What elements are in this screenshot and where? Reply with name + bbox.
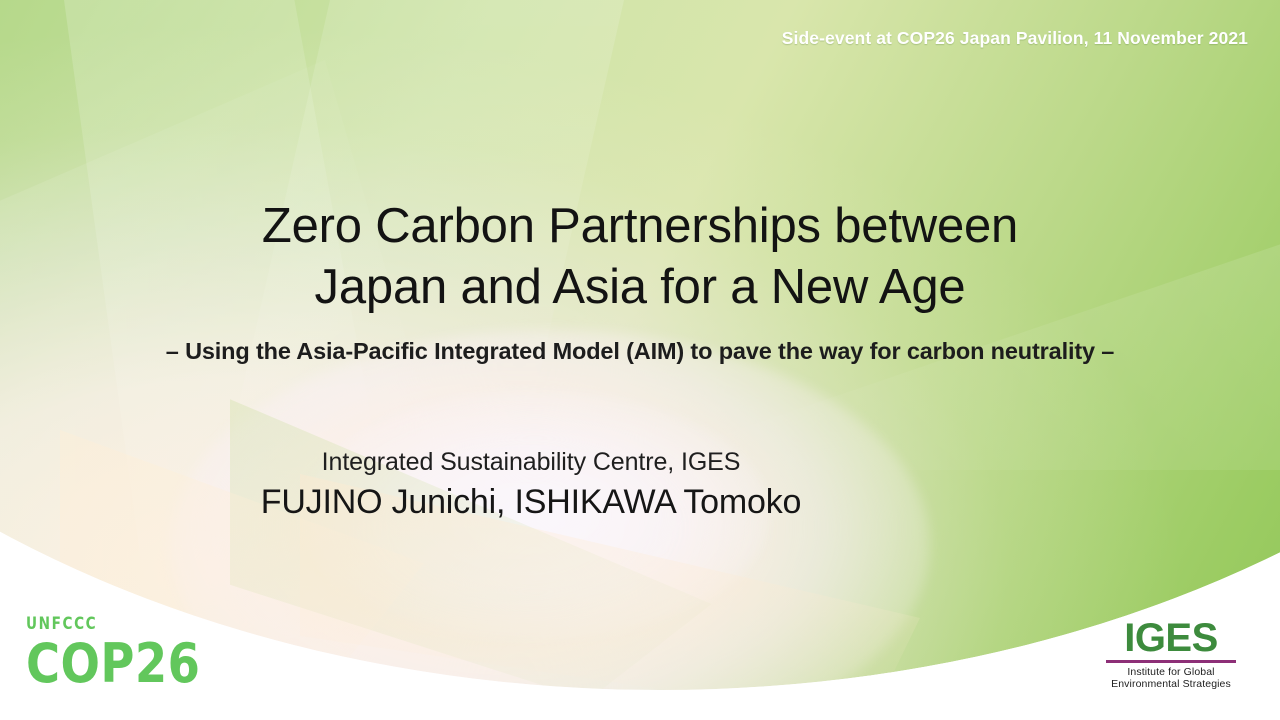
presentation-slide: Side-event at COP26 Japan Pavilion, 11 N… xyxy=(0,0,1280,720)
page-subtitle: – Using the Asia-Pacific Integrated Mode… xyxy=(0,338,1280,365)
cop26-logo-name-text: COP26 xyxy=(26,637,200,691)
iges-logo: IGES Institute for Global Environmental … xyxy=(1106,618,1236,690)
background-ray-5 xyxy=(230,380,790,700)
iges-logo-tagline-line-1: Institute for Global xyxy=(1106,666,1236,678)
affiliation-text: Integrated Sustainability Centre, IGES xyxy=(0,446,1062,479)
page-title-line-2: Japan and Asia for a New Age xyxy=(0,257,1280,318)
iges-logo-divider xyxy=(1106,660,1236,663)
title-block: Zero Carbon Partnerships between Japan a… xyxy=(0,196,1280,318)
cop26-logo: UNFCCC COP26 xyxy=(26,616,229,691)
page-title-line-1: Zero Carbon Partnerships between xyxy=(0,196,1280,257)
cop26-logo-unfccc-text: UNFCCC xyxy=(26,616,188,633)
iges-logo-acronym: IGES xyxy=(1106,618,1236,658)
iges-logo-tagline-line-2: Environmental Strategies xyxy=(1106,678,1236,690)
author-block: Integrated Sustainability Centre, IGES F… xyxy=(0,446,1062,524)
event-header: Side-event at COP26 Japan Pavilion, 11 N… xyxy=(782,28,1248,49)
background-warm-glow xyxy=(170,330,930,720)
background-ray-3 xyxy=(0,60,560,700)
authors-text: FUJINO Junichi, ISHIKAWA Tomoko xyxy=(0,481,1062,524)
